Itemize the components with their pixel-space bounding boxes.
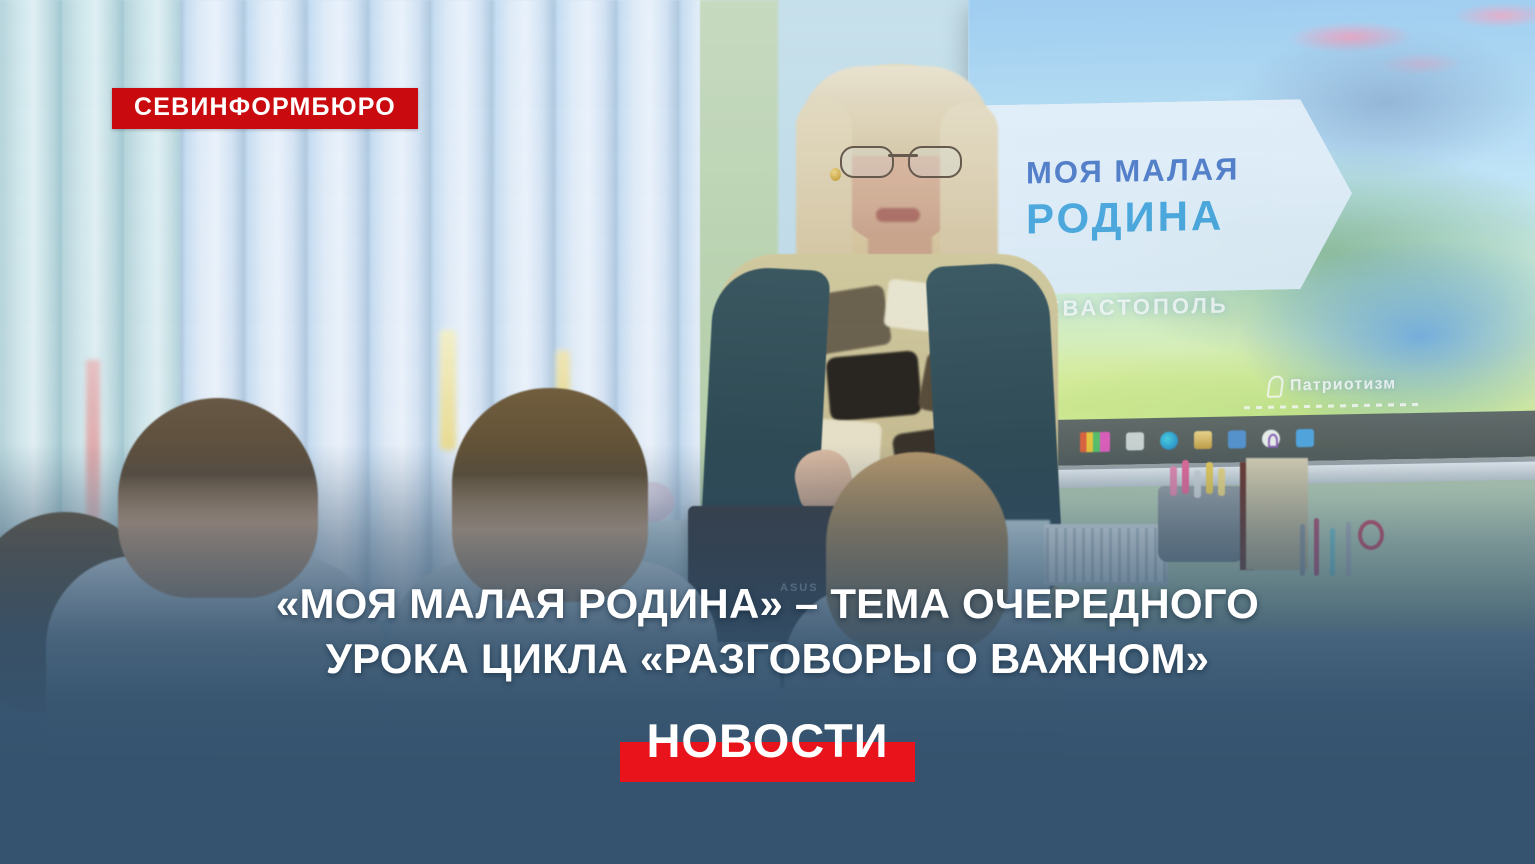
explorer-icon[interactable] <box>1194 431 1212 449</box>
window-light-glow <box>440 330 456 450</box>
student-front-center-head <box>452 388 648 602</box>
blouse-pattern-patch <box>825 350 922 422</box>
earring-icon <box>830 168 841 181</box>
ruler-icon <box>1346 522 1351 576</box>
headline: «МОЯ МАЛАЯ РОДИНА» – ТЕМА ОЧЕРЕДНОГО УРО… <box>0 576 1535 687</box>
headline-line-2: УРОКА ЦИКЛА «РАЗГОВОРЫ О ВАЖНОМ» <box>90 631 1445 686</box>
calculator-icon[interactable] <box>1228 430 1246 448</box>
brush-icon <box>1330 528 1335 576</box>
document-tray-papers <box>1046 528 1166 582</box>
headline-line-1: «МОЯ МАЛАЯ РОДИНА» – ТЕМА ОЧЕРЕДНОГО <box>90 576 1445 631</box>
paint-icon[interactable] <box>1080 432 1110 453</box>
marker-pen <box>1194 470 1201 498</box>
pen-holder <box>1158 486 1244 562</box>
marker-pen <box>1170 466 1177 496</box>
channel-badge: СЕВИНФОРМБЮРО <box>112 88 418 129</box>
brush-icon <box>1314 518 1319 576</box>
slide-theme-tag: Патриотизм <box>1268 373 1396 397</box>
scissors-icon <box>1358 520 1384 550</box>
store-icon[interactable] <box>1296 429 1314 447</box>
edge-browser-icon[interactable] <box>1160 432 1178 450</box>
media-player-icon[interactable] <box>1262 430 1280 448</box>
teacher-mouth <box>876 208 920 222</box>
category-badge-wrap: НОВОСТИ <box>0 716 1535 765</box>
student-front-left-head <box>118 398 318 598</box>
slide-theme-label: Патриотизм <box>1290 375 1396 395</box>
category-badge: НОВОСТИ <box>620 716 914 765</box>
news-broadcast-frame: МОЯ МАЛАЯ РОДИНА СЕВАСТОПОЛЬ Патриотизм <box>0 0 1535 864</box>
marker-pen <box>1182 460 1189 494</box>
category-badge-label: НОВОСТИ <box>646 714 888 767</box>
patriotism-logo-icon <box>1266 375 1284 397</box>
glasses-bridge <box>888 154 918 157</box>
marker-pen <box>1218 468 1225 496</box>
marker-pen <box>1206 462 1213 494</box>
glasses-icon <box>838 146 964 176</box>
notepad-icon[interactable] <box>1126 432 1144 450</box>
ruler-icon <box>1300 524 1305 576</box>
tool-holder <box>1296 518 1392 580</box>
